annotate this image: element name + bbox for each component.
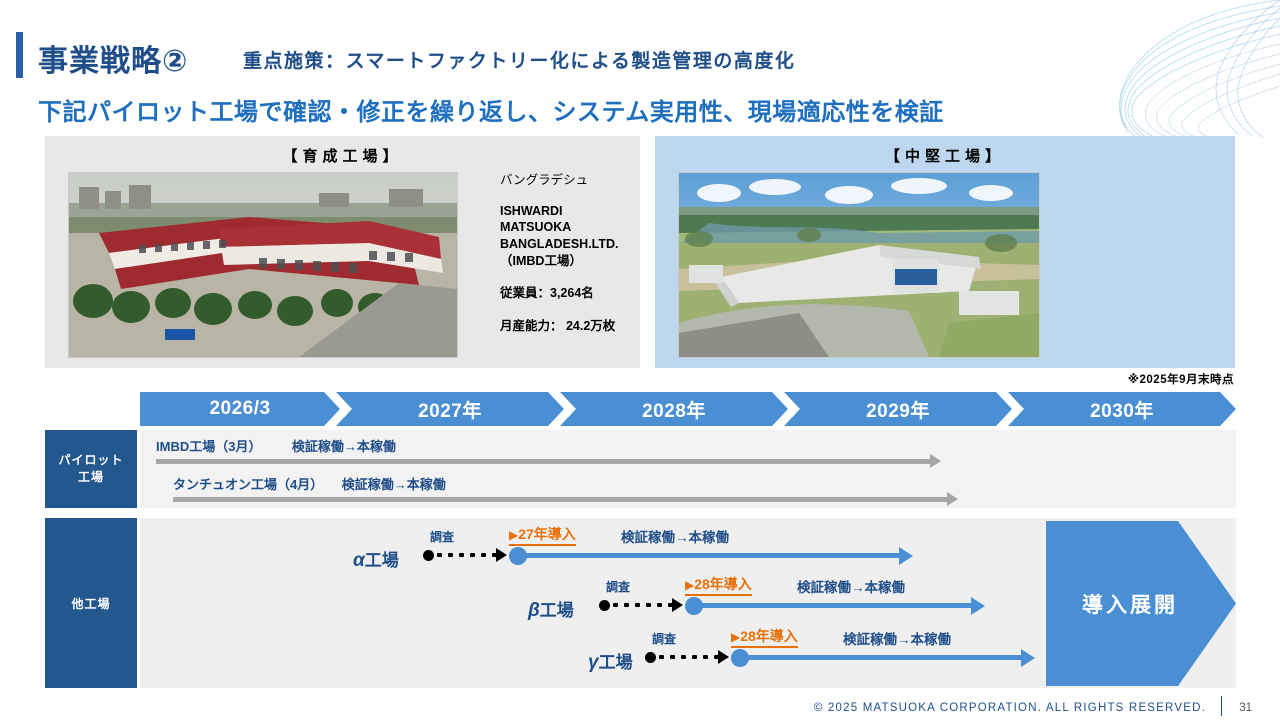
pilot-label-line1: パイロット xyxy=(58,452,123,469)
other-row-gamma-bar xyxy=(745,655,1023,660)
other-row-gamma-intro-tag: ▶28年導入 xyxy=(731,626,798,648)
corp-line: ISHWARDI xyxy=(500,203,640,220)
panel-left-employees: 従業員：3,264名 xyxy=(500,285,640,302)
other-row-beta-name: β工場 xyxy=(528,596,574,622)
page-number: 31 xyxy=(1239,702,1252,714)
other-row-gamma-suffix: 工場 xyxy=(599,653,633,672)
pilot-bar-imbd xyxy=(156,459,932,464)
page-title: 事業戦略② xyxy=(38,36,188,80)
title-accent-bar xyxy=(16,32,23,78)
as-of-date-note: ※2025年9月末時点 xyxy=(1128,371,1234,387)
triangle-marker-icon: ▶ xyxy=(685,578,694,592)
greek-letter-beta: β xyxy=(528,600,540,621)
pilot-row-imbd: IMBD工場（3月） 検証稼働→本稼働 xyxy=(156,436,396,456)
other-row-alpha-phase: 検証稼働→本稼働 xyxy=(621,526,729,546)
other-label-text: 他工場 xyxy=(71,595,110,612)
other-row-alpha-survey-label: 調査 xyxy=(430,528,454,545)
other-row-alpha-name: α工場 xyxy=(353,546,399,572)
other-row-alpha-intro-text: 27年導入 xyxy=(518,526,576,542)
panel-midtier-factory: 【中堅工場】 xyxy=(655,136,1235,368)
other-row-alpha-bar xyxy=(523,553,901,558)
pilot-row-thanhchuong: タンチュオン工場（4月） 検証稼働→本稼働 xyxy=(173,474,446,494)
other-row-gamma-intro-text: 28年導入 xyxy=(740,628,798,644)
other-row-beta-survey-arrowhead xyxy=(672,598,683,612)
pilot-row-thanhchuong-factory: タンチュオン工場（4月） xyxy=(173,477,323,492)
other-factory-label: 他工場 xyxy=(45,518,137,688)
timeline-segment-2027: 2027年 xyxy=(336,392,564,426)
timeline-segment-2029: 2029年 xyxy=(784,392,1012,426)
pilot-bar-imbd-arrowhead xyxy=(930,454,941,468)
copyright-text: © 2025 MATSUOKA CORPORATION. ALL RIGHTS … xyxy=(814,702,1206,714)
other-row-gamma-survey-label: 調査 xyxy=(652,630,676,647)
timeline-segment-2030: 2030年 xyxy=(1008,392,1236,426)
corp-line: （IMBD工場） xyxy=(500,253,640,270)
other-row-gamma-name: γ工場 xyxy=(588,648,633,674)
other-row-beta-phase: 検証稼働→本稼働 xyxy=(797,576,905,596)
timeline-segment-2028: 2028年 xyxy=(560,392,788,426)
panel-right-heading: 【中堅工場】 xyxy=(655,136,1235,166)
other-row-gamma-survey-dotted-line xyxy=(656,655,718,659)
timeline-year-header: 2026/3 2027年 2028年 2029年 2030年 xyxy=(140,392,1236,426)
other-row-gamma-phase: 検証稼働→本稼働 xyxy=(843,628,951,648)
other-row-gamma-survey-start-dot xyxy=(645,652,656,663)
footer-divider xyxy=(1221,696,1222,716)
other-row-beta-intro-tag: ▶28年導入 xyxy=(685,574,752,596)
panel-left-corporation: ISHWARDI MATSUOKA BANGLADESH.LTD. （IMBD工… xyxy=(500,203,640,270)
pilot-row-imbd-phase: 検証稼働→本稼働 xyxy=(292,439,396,454)
greek-letter-gamma: γ xyxy=(588,652,599,673)
other-row-beta-survey-label: 調査 xyxy=(606,578,630,595)
other-row-beta-arrowhead xyxy=(971,597,985,615)
panel-left-country: バングラデシュ xyxy=(500,172,640,189)
greek-letter-alpha: α xyxy=(353,550,365,571)
pilot-bar-thanhchuong-arrowhead xyxy=(947,492,958,506)
other-row-gamma-arrowhead xyxy=(1021,649,1035,667)
panel-left-heading: 【育成工場】 xyxy=(45,136,640,166)
ishwardi-factory-aerial-photo xyxy=(68,172,458,358)
panel-left-capacity: 月産能力： 24.2万枚 xyxy=(500,318,640,335)
other-row-alpha-intro-tag: ▶27年導入 xyxy=(509,524,576,546)
page-subtitle: 重点施策：スマートファクトリー化による製造管理の高度化 xyxy=(243,46,795,73)
other-row-beta-bar xyxy=(699,603,973,608)
other-row-alpha-survey-start-dot xyxy=(423,550,434,561)
other-row-alpha-arrowhead xyxy=(899,547,913,565)
panel-left-info: バングラデシュ ISHWARDI MATSUOKA BANGLADESH.LTD… xyxy=(500,172,640,350)
other-row-gamma-survey-arrowhead xyxy=(718,650,729,664)
pilot-factory-band: IMBD工場（3月） 検証稼働→本稼働 タンチュオン工場（4月） 検証稼働→本稼… xyxy=(140,430,1236,508)
other-row-beta-survey-dotted-line xyxy=(610,603,672,607)
other-row-alpha-suffix: 工場 xyxy=(365,551,399,570)
other-row-beta-suffix: 工場 xyxy=(540,601,574,620)
pilot-label-line2: 工場 xyxy=(78,469,104,486)
decorative-wave-graphic xyxy=(1030,0,1280,140)
other-row-alpha-survey-dotted-line xyxy=(434,553,496,557)
lead-statement: 下記パイロット工場で確認・修正を繰り返し、システム実用性、現場適応性を検証 xyxy=(38,92,944,127)
pilot-row-thanhchuong-phase: 検証稼働→本稼働 xyxy=(342,477,446,492)
corp-line: MATSUOKA xyxy=(500,219,640,236)
other-row-beta-survey-start-dot xyxy=(599,600,610,611)
pilot-row-imbd-factory: IMBD工場（3月） xyxy=(156,439,261,454)
other-row-alpha-survey-arrowhead xyxy=(496,548,507,562)
pilot-bar-thanhchuong xyxy=(173,497,949,502)
pilot-factory-label: パイロット 工場 xyxy=(45,430,137,508)
timeline-segment-2026: 2026/3 xyxy=(140,392,340,426)
panel-growth-factory: 【育成工場】 xyxy=(45,136,640,368)
other-row-beta-intro-text: 28年導入 xyxy=(694,576,752,592)
triangle-marker-icon: ▶ xyxy=(731,630,740,644)
deployment-chevron-label: 導入展開 xyxy=(1082,589,1178,619)
triangle-marker-icon: ▶ xyxy=(509,528,518,542)
corp-line: BANGLADESH.LTD. xyxy=(500,236,640,253)
thanh-chuong-factory-aerial-photo xyxy=(678,172,1040,358)
